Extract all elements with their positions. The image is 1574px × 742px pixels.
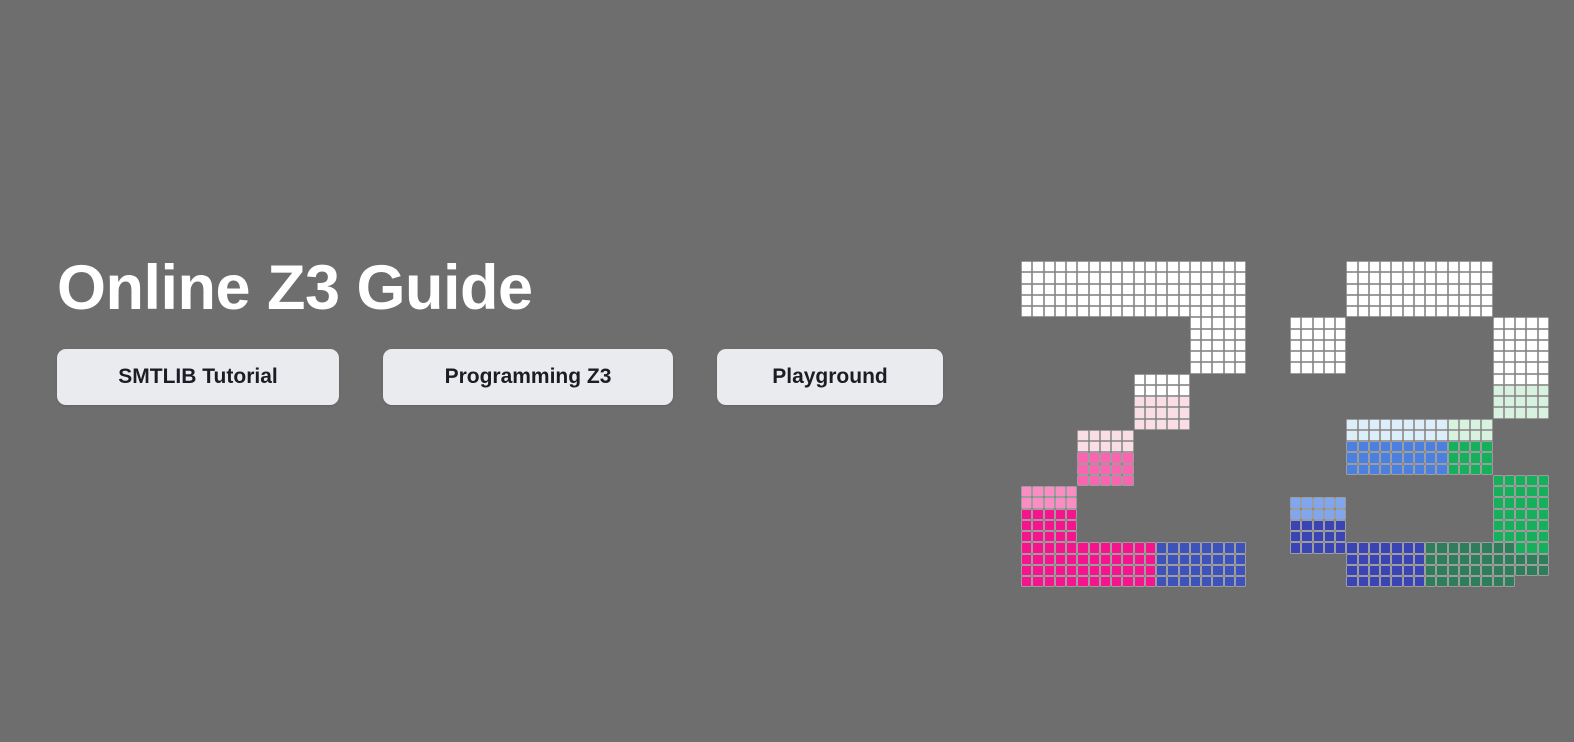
logo-pixel-cell: [1077, 464, 1088, 475]
logo-pixel-cell: [1179, 284, 1190, 295]
logo-pixel-cell: [1224, 362, 1235, 373]
logo-pixel-cell: [1324, 542, 1335, 553]
logo-pixel-cell: [1515, 351, 1526, 362]
logo-pixel-cell: [1324, 497, 1335, 508]
logo-pixel-cell: [1493, 351, 1504, 362]
logo-pixel-cell: [1335, 509, 1346, 520]
logo-pixel-cell: [1111, 295, 1122, 306]
hero-button-group: SMTLIB Tutorial Programming Z3 Playgroun…: [57, 349, 957, 405]
logo-pixel-cell: [1436, 554, 1447, 565]
logo-pixel-cell: [1380, 576, 1391, 587]
logo-pixel-cell: [1369, 430, 1380, 441]
logo-pixel-cell: [1179, 554, 1190, 565]
logo-pixel-cell: [1538, 509, 1549, 520]
logo-pixel-cell: [1481, 306, 1492, 317]
logo-pixel-cell: [1538, 565, 1549, 576]
logo-pixel-cell: [1301, 317, 1312, 328]
logo-pixel-cell: [1100, 441, 1111, 452]
playground-button[interactable]: Playground: [717, 349, 943, 405]
logo-pixel-cell: [1167, 306, 1178, 317]
logo-pixel-cell: [1224, 317, 1235, 328]
logo-pixel-cell: [1190, 284, 1201, 295]
logo-pixel-cell: [1380, 430, 1391, 441]
logo-pixel-cell: [1538, 329, 1549, 340]
logo-pixel-cell: [1235, 272, 1246, 283]
logo-pixel-cell: [1021, 486, 1032, 497]
logo-pixel-cell: [1077, 576, 1088, 587]
logo-pixel-cell: [1481, 565, 1492, 576]
logo-pixel-cell: [1504, 475, 1515, 486]
logo-pixel-cell: [1032, 272, 1043, 283]
logo-pixel-cell: [1077, 295, 1088, 306]
logo-pixel-cell: [1145, 419, 1156, 430]
logo-pixel-cell: [1470, 295, 1481, 306]
logo-pixel-cell: [1055, 497, 1066, 508]
logo-pixel-cell: [1201, 576, 1212, 587]
logo-pixel-cell: [1526, 475, 1537, 486]
logo-pixel-cell: [1459, 430, 1470, 441]
logo-pixel-cell: [1077, 542, 1088, 553]
logo-pixel-cell: [1436, 452, 1447, 463]
logo-pixel-cell: [1301, 329, 1312, 340]
logo-pixel-cell: [1224, 576, 1235, 587]
logo-pixel-cell: [1224, 261, 1235, 272]
logo-pixel-cell: [1380, 565, 1391, 576]
logo-pixel-cell: [1324, 509, 1335, 520]
logo-pixel-cell: [1335, 329, 1346, 340]
logo-pixel-cell: [1526, 351, 1537, 362]
logo-pixel-cell: [1324, 340, 1335, 351]
logo-pixel-cell: [1380, 306, 1391, 317]
z3-logo: [1021, 261, 1521, 586]
logo-pixel-cell: [1313, 520, 1324, 531]
logo-pixel-cell: [1470, 430, 1481, 441]
logo-pixel-cell: [1324, 329, 1335, 340]
logo-pixel-cell: [1055, 531, 1066, 542]
logo-pixel-cell: [1032, 509, 1043, 520]
logo-pixel-cell: [1235, 261, 1246, 272]
logo-pixel-cell: [1436, 306, 1447, 317]
logo-pixel-cell: [1538, 340, 1549, 351]
logo-pixel-cell: [1179, 396, 1190, 407]
logo-pixel-cell: [1448, 430, 1459, 441]
logo-pixel-cell: [1470, 441, 1481, 452]
logo-pixel-cell: [1324, 317, 1335, 328]
logo-pixel-cell: [1369, 464, 1380, 475]
logo-pixel-cell: [1212, 340, 1223, 351]
logo-pixel-cell: [1538, 385, 1549, 396]
logo-pixel-cell: [1526, 497, 1537, 508]
logo-pixel-cell: [1403, 284, 1414, 295]
logo-pixel-cell: [1436, 261, 1447, 272]
logo-pixel-cell: [1145, 542, 1156, 553]
logo-pixel-cell: [1346, 272, 1357, 283]
logo-pixel-cell: [1044, 531, 1055, 542]
logo-pixel-cell: [1448, 576, 1459, 587]
logo-pixel-cell: [1290, 351, 1301, 362]
logo-pixel-cell: [1459, 464, 1470, 475]
logo-pixel-cell: [1380, 452, 1391, 463]
logo-pixel-cell: [1436, 272, 1447, 283]
logo-pixel-cell: [1346, 452, 1357, 463]
logo-pixel-cell: [1436, 295, 1447, 306]
logo-pixel-cell: [1167, 374, 1178, 385]
logo-pixel-cell: [1504, 351, 1515, 362]
logo-pixel-cell: [1179, 407, 1190, 418]
logo-pixel-cell: [1089, 284, 1100, 295]
logo-pixel-cell: [1358, 464, 1369, 475]
logo-pixel-cell: [1077, 452, 1088, 463]
logo-pixel-cell: [1134, 407, 1145, 418]
logo-pixel-cell: [1369, 261, 1380, 272]
logo-pixel-cell: [1414, 576, 1425, 587]
logo-pixel-cell: [1301, 531, 1312, 542]
logo-pixel-cell: [1414, 542, 1425, 553]
logo-pixel-cell: [1032, 531, 1043, 542]
logo-pixel-cell: [1448, 284, 1459, 295]
logo-pixel-cell: [1391, 419, 1402, 430]
logo-pixel-cell: [1515, 565, 1526, 576]
logo-pixel-cell: [1190, 261, 1201, 272]
logo-pixel-cell: [1403, 272, 1414, 283]
logo-pixel-cell: [1134, 261, 1145, 272]
logo-pixel-cell: [1436, 565, 1447, 576]
logo-pixel-cell: [1358, 565, 1369, 576]
logo-pixel-cell: [1021, 554, 1032, 565]
logo-pixel-cell: [1077, 554, 1088, 565]
logo-pixel-cell: [1515, 554, 1526, 565]
logo-pixel-cell: [1100, 464, 1111, 475]
logo-pixel-cell: [1481, 576, 1492, 587]
logo-pixel-cell: [1380, 464, 1391, 475]
logo-pixel-cell: [1470, 261, 1481, 272]
logo-pixel-cell: [1459, 565, 1470, 576]
logo-pixel-cell: [1055, 509, 1066, 520]
logo-pixel-cell: [1145, 374, 1156, 385]
logo-pixel-cell: [1100, 576, 1111, 587]
logo-pixel-cell: [1425, 430, 1436, 441]
logo-pixel-cell: [1448, 542, 1459, 553]
logo-pixel-cell: [1235, 351, 1246, 362]
logo-pixel-cell: [1032, 565, 1043, 576]
logo-pixel-cell: [1538, 317, 1549, 328]
logo-pixel-cell: [1290, 317, 1301, 328]
logo-pixel-cell: [1358, 419, 1369, 430]
logo-pixel-cell: [1044, 509, 1055, 520]
logo-pixel-cell: [1391, 464, 1402, 475]
logo-pixel-cell: [1436, 430, 1447, 441]
logo-pixel-cell: [1335, 497, 1346, 508]
logo-pixel-cell: [1122, 284, 1133, 295]
logo-pixel-cell: [1313, 509, 1324, 520]
logo-pixel-cell: [1391, 565, 1402, 576]
logo-pixel-cell: [1044, 576, 1055, 587]
logo-pixel-cell: [1380, 295, 1391, 306]
logo-pixel-cell: [1212, 272, 1223, 283]
logo-pixel-cell: [1504, 317, 1515, 328]
logo-pixel-cell: [1100, 554, 1111, 565]
logo-pixel-cell: [1493, 554, 1504, 565]
logo-pixel-cell: [1111, 261, 1122, 272]
logo-pixel-cell: [1190, 362, 1201, 373]
logo-pixel-cell: [1167, 576, 1178, 587]
logo-pixel-cell: [1032, 306, 1043, 317]
logo-pixel-cell: [1526, 520, 1537, 531]
logo-pixel-cell: [1369, 272, 1380, 283]
logo-pixel-cell: [1111, 542, 1122, 553]
logo-pixel-cell: [1504, 554, 1515, 565]
logo-pixel-cell: [1414, 430, 1425, 441]
logo-pixel-cell: [1290, 509, 1301, 520]
logo-pixel-cell: [1538, 475, 1549, 486]
logo-pixel-cell: [1459, 452, 1470, 463]
logo-pixel-cell: [1122, 430, 1133, 441]
logo-pixel-cell: [1077, 272, 1088, 283]
logo-pixel-cell: [1335, 351, 1346, 362]
logo-pixel-cell: [1481, 464, 1492, 475]
logo-pixel-cell: [1403, 306, 1414, 317]
logo-pixel-cell: [1448, 306, 1459, 317]
logo-pixel-cell: [1224, 554, 1235, 565]
logo-pixel-cell: [1425, 272, 1436, 283]
logo-pixel-cell: [1425, 554, 1436, 565]
logo-pixel-cell: [1224, 329, 1235, 340]
logo-pixel-cell: [1179, 306, 1190, 317]
logo-pixel-cell: [1179, 419, 1190, 430]
logo-pixel-cell: [1526, 509, 1537, 520]
logo-pixel-cell: [1044, 295, 1055, 306]
logo-pixel-cell: [1156, 407, 1167, 418]
logo-pixel-cell: [1066, 531, 1077, 542]
logo-pixel-cell: [1481, 261, 1492, 272]
logo-pixel-cell: [1470, 419, 1481, 430]
logo-pixel-cell: [1448, 272, 1459, 283]
logo-pixel-cell: [1021, 520, 1032, 531]
logo-pixel-cell: [1235, 576, 1246, 587]
logo-pixel-cell: [1066, 576, 1077, 587]
logo-pixel-cell: [1134, 554, 1145, 565]
logo-pixel-cell: [1504, 576, 1515, 587]
logo-pixel-cell: [1179, 261, 1190, 272]
logo-pixel-cell: [1301, 340, 1312, 351]
logo-pixel-cell: [1111, 284, 1122, 295]
logo-pixel-cell: [1313, 542, 1324, 553]
logo-pixel-cell: [1515, 531, 1526, 542]
logo-pixel-cell: [1448, 441, 1459, 452]
logo-pixel-cell: [1089, 261, 1100, 272]
logo-pixel-cell: [1190, 317, 1201, 328]
logo-pixel-cell: [1212, 329, 1223, 340]
logo-pixel-cell: [1111, 272, 1122, 283]
logo-pixel-cell: [1032, 576, 1043, 587]
logo-pixel-cell: [1538, 497, 1549, 508]
logo-pixel-cell: [1358, 452, 1369, 463]
logo-pixel-cell: [1044, 554, 1055, 565]
logo-pixel-cell: [1403, 441, 1414, 452]
logo-pixel-cell: [1459, 554, 1470, 565]
programming-z3-button[interactable]: Programming Z3: [383, 349, 673, 405]
logo-pixel-cell: [1290, 531, 1301, 542]
logo-pixel-cell: [1526, 486, 1537, 497]
logo-pixel-cell: [1335, 340, 1346, 351]
logo-pixel-cell: [1369, 576, 1380, 587]
logo-pixel-cell: [1156, 542, 1167, 553]
logo-pixel-cell: [1190, 542, 1201, 553]
logo-pixel-cell: [1201, 261, 1212, 272]
logo-pixel-cell: [1190, 565, 1201, 576]
logo-pixel-cell: [1201, 295, 1212, 306]
logo-pixel-cell: [1358, 554, 1369, 565]
hero-section: Online Z3 Guide SMTLIB Tutorial Programm…: [0, 0, 1574, 742]
logo-pixel-cell: [1448, 419, 1459, 430]
logo-pixel-cell: [1526, 340, 1537, 351]
logo-pixel-cell: [1346, 419, 1357, 430]
logo-pixel-cell: [1145, 407, 1156, 418]
logo-pixel-cell: [1538, 520, 1549, 531]
logo-pixel-cell: [1201, 306, 1212, 317]
logo-pixel-cell: [1425, 441, 1436, 452]
logo-pixel-cell: [1134, 542, 1145, 553]
logo-pixel-cell: [1414, 452, 1425, 463]
logo-pixel-cell: [1425, 542, 1436, 553]
logo-pixel-cell: [1044, 261, 1055, 272]
logo-pixel-cell: [1538, 554, 1549, 565]
logo-pixel-cell: [1156, 385, 1167, 396]
logo-pixel-cell: [1179, 295, 1190, 306]
logo-pixel-cell: [1212, 351, 1223, 362]
logo-pixel-cell: [1055, 261, 1066, 272]
logo-pixel-cell: [1111, 441, 1122, 452]
logo-pixel-cell: [1066, 306, 1077, 317]
logo-pixel-cell: [1391, 295, 1402, 306]
logo-pixel-cell: [1493, 509, 1504, 520]
logo-pixel-cell: [1201, 362, 1212, 373]
logo-pixel-cell: [1538, 374, 1549, 385]
logo-pixel-cell: [1369, 565, 1380, 576]
logo-pixel-cell: [1111, 306, 1122, 317]
logo-pixel-cell: [1044, 272, 1055, 283]
logo-pixel-cell: [1369, 306, 1380, 317]
logo-pixel-cell: [1122, 452, 1133, 463]
logo-pixel-cell: [1459, 542, 1470, 553]
logo-pixel-cell: [1156, 396, 1167, 407]
logo-pixel-cell: [1122, 464, 1133, 475]
logo-pixel-cell: [1301, 351, 1312, 362]
logo-pixel-cell: [1459, 419, 1470, 430]
logo-pixel-cell: [1145, 385, 1156, 396]
logo-pixel-cell: [1493, 497, 1504, 508]
logo-pixel-cell: [1493, 385, 1504, 396]
logo-pixel-cell: [1448, 261, 1459, 272]
logo-pixel-cell: [1313, 351, 1324, 362]
logo-pixel-cell: [1515, 486, 1526, 497]
logo-pixel-cell: [1493, 486, 1504, 497]
logo-pixel-cell: [1100, 261, 1111, 272]
logo-pixel-cell: [1044, 284, 1055, 295]
logo-pixel-cell: [1414, 554, 1425, 565]
logo-pixel-cell: [1391, 554, 1402, 565]
logo-pixel-cell: [1403, 419, 1414, 430]
logo-pixel-cell: [1224, 295, 1235, 306]
logo-pixel-cell: [1212, 317, 1223, 328]
logo-pixel-cell: [1122, 475, 1133, 486]
logo-pixel-cell: [1212, 261, 1223, 272]
logo-pixel-cell: [1100, 284, 1111, 295]
logo-pixel-cell: [1436, 576, 1447, 587]
logo-pixel-cell: [1526, 385, 1537, 396]
logo-pixel-cell: [1515, 362, 1526, 373]
logo-pixel-cell: [1179, 542, 1190, 553]
logo-pixel-cell: [1358, 284, 1369, 295]
logo-pixel-cell: [1504, 329, 1515, 340]
logo-pixel-cell: [1493, 565, 1504, 576]
logo-pixel-cell: [1459, 284, 1470, 295]
logo-pixel-cell: [1077, 475, 1088, 486]
logo-pixel-cell: [1077, 565, 1088, 576]
logo-pixel-cell: [1459, 441, 1470, 452]
logo-pixel-cell: [1224, 351, 1235, 362]
logo-pixel-cell: [1481, 452, 1492, 463]
logo-pixel-cell: [1459, 306, 1470, 317]
logo-pixel-cell: [1032, 295, 1043, 306]
logo-pixel-cell: [1346, 295, 1357, 306]
logo-pixel-cell: [1335, 362, 1346, 373]
logo-pixel-cell: [1134, 272, 1145, 283]
logo-pixel-cell: [1032, 486, 1043, 497]
smtlib-tutorial-button[interactable]: SMTLIB Tutorial: [57, 349, 339, 405]
logo-pixel-cell: [1414, 441, 1425, 452]
logo-pixel-cell: [1156, 261, 1167, 272]
logo-pixel-cell: [1425, 576, 1436, 587]
logo-pixel-cell: [1391, 430, 1402, 441]
logo-pixel-cell: [1448, 464, 1459, 475]
logo-pixel-cell: [1448, 554, 1459, 565]
logo-pixel-cell: [1156, 306, 1167, 317]
logo-pixel-cell: [1089, 295, 1100, 306]
logo-pixel-cell: [1077, 441, 1088, 452]
logo-pixel-cell: [1066, 509, 1077, 520]
logo-pixel-cell: [1235, 295, 1246, 306]
logo-pixel-cell: [1235, 329, 1246, 340]
logo-pixel-cell: [1077, 284, 1088, 295]
logo-pixel-cell: [1100, 542, 1111, 553]
logo-pixel-cell: [1425, 306, 1436, 317]
logo-pixel-cell: [1212, 565, 1223, 576]
logo-pixel-cell: [1515, 329, 1526, 340]
logo-pixel-cell: [1493, 475, 1504, 486]
logo-pixel-cell: [1290, 542, 1301, 553]
logo-pixel-cell: [1346, 464, 1357, 475]
logo-pixel-cell: [1470, 464, 1481, 475]
logo-pixel-cell: [1403, 295, 1414, 306]
logo-pixel-cell: [1526, 317, 1537, 328]
logo-pixel-cell: [1515, 374, 1526, 385]
logo-pixel-cell: [1145, 554, 1156, 565]
logo-pixel-cell: [1504, 497, 1515, 508]
logo-pixel-cell: [1425, 295, 1436, 306]
logo-pixel-cell: [1100, 295, 1111, 306]
logo-pixel-cell: [1391, 441, 1402, 452]
logo-pixel-cell: [1021, 576, 1032, 587]
logo-pixel-cell: [1358, 272, 1369, 283]
logo-pixel-cell: [1167, 295, 1178, 306]
logo-pixel-cell: [1122, 306, 1133, 317]
logo-pixel-cell: [1156, 565, 1167, 576]
logo-pixel-cell: [1504, 509, 1515, 520]
logo-pixel-cell: [1290, 329, 1301, 340]
logo-pixel-cell: [1055, 542, 1066, 553]
logo-pixel-cell: [1504, 374, 1515, 385]
